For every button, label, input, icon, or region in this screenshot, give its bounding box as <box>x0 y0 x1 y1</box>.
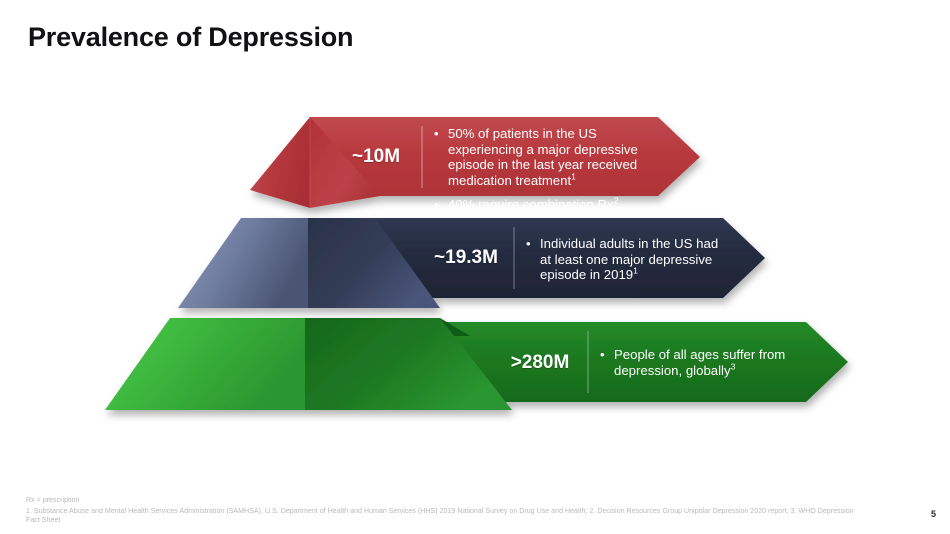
slide-canvas: Prevalence of Depression <box>0 0 950 534</box>
bullet-item: • People of all ages suffer from depress… <box>600 347 810 378</box>
footnote-marker: 1 <box>633 266 638 276</box>
bullet-dot-icon: • <box>434 197 444 213</box>
tier-middle-value: ~19.3M <box>420 247 512 269</box>
footnote-marker: 2 <box>614 196 619 206</box>
bullet-dot-icon: • <box>526 236 536 252</box>
footnote-sources: 1. Substance Abuse and Mental Health Ser… <box>26 507 866 525</box>
tier-top-value: ~10M <box>336 146 416 168</box>
pyramid-diagram <box>0 0 950 470</box>
tier-middle-bullets: • Individual adults in the US had at lea… <box>526 236 732 283</box>
footnote-marker: 3 <box>731 361 736 371</box>
bullet-item: • 50% of patients in the US experiencing… <box>434 126 670 188</box>
tier-top-bullets: • 50% of patients in the US experiencing… <box>434 126 670 213</box>
footnote-marker: 1 <box>571 171 576 181</box>
tier-middle-left-face <box>178 218 308 308</box>
bullet-text: Individual adults in the US had at least… <box>540 236 718 282</box>
bullet-text: 50% of patients in the US experiencing a… <box>448 126 638 188</box>
bullet-item: • 40% require combination Rx2 <box>434 197 670 213</box>
bullet-text: 40% require combination Rx <box>448 197 614 212</box>
tier-bottom-bullets: • People of all ages suffer from depress… <box>600 347 810 378</box>
page-number: 5 <box>931 509 936 519</box>
bullet-text: People of all ages suffer from depressio… <box>614 347 785 378</box>
footnote-abbreviation: Rx = prescription <box>26 496 866 505</box>
bullet-item: • Individual adults in the US had at lea… <box>526 236 732 283</box>
tier-bottom-left-face <box>105 318 305 410</box>
bullet-dot-icon: • <box>434 126 444 142</box>
tier-bottom-value: >280M <box>496 352 584 374</box>
tier-top-left-face <box>250 117 310 208</box>
bullet-dot-icon: • <box>600 347 610 363</box>
